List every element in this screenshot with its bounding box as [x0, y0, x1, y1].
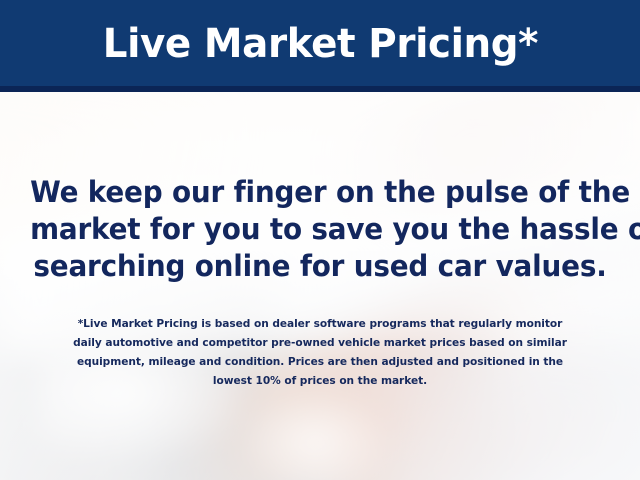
- fineprint-disclaimer: *Live Market Pricing is based on dealer …: [20, 315, 620, 391]
- headline-line-1: We keep our finger on the pulse of the: [30, 174, 610, 211]
- headline-text: We keep our finger on the pulse of the m…: [30, 174, 610, 285]
- headline-line-2: market for you to save you the hassle of: [30, 211, 610, 248]
- header-banner: Live Market Pricing*: [0, 0, 640, 92]
- content-area: We keep our finger on the pulse of the m…: [0, 92, 640, 480]
- headline-line-3: searching online for used car values.: [30, 248, 610, 285]
- fineprint-line-2: daily automotive and competitor pre-owne…: [20, 334, 620, 353]
- live-market-pricing-promo-card: Live Market Pricing* We keep our finger …: [0, 0, 640, 480]
- fineprint-line-3: equipment, mileage and condition. Prices…: [20, 353, 620, 372]
- fineprint-line-4: lowest 10% of prices on the market.: [20, 372, 620, 391]
- fineprint-line-1: *Live Market Pricing is based on dealer …: [20, 315, 620, 334]
- page-title: Live Market Pricing*: [102, 24, 537, 64]
